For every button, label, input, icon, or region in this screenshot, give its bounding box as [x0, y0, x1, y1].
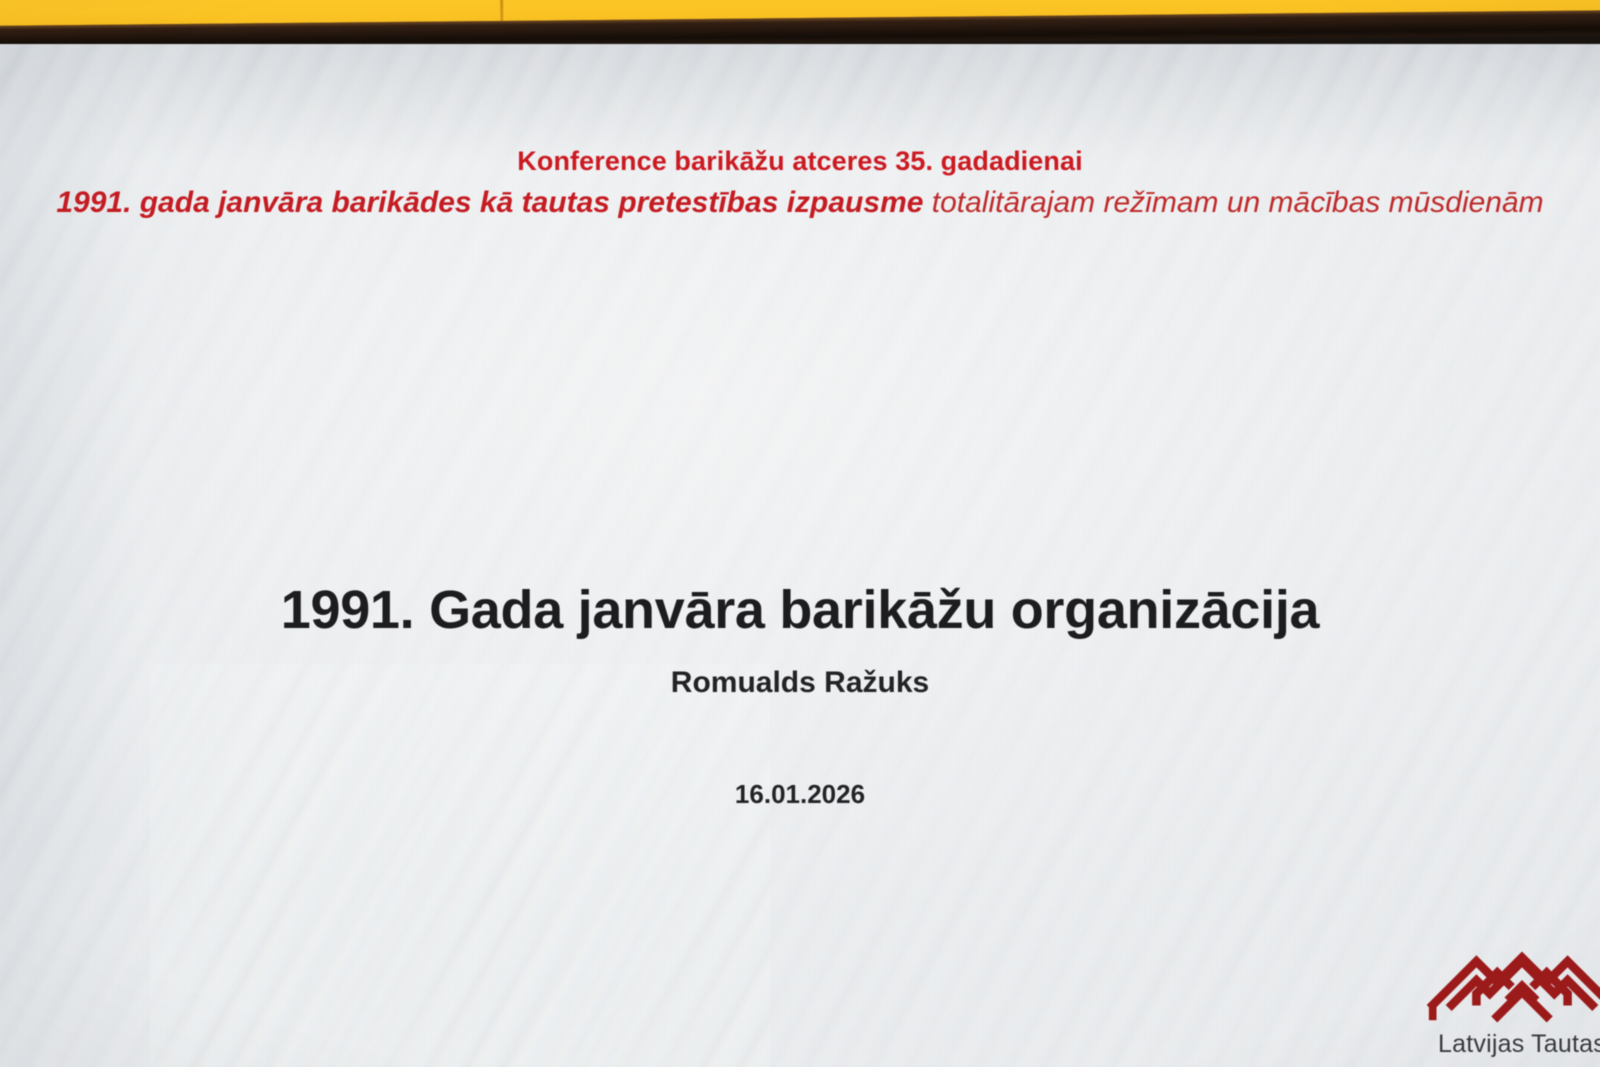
organization-logo: Latvijas Tautas: [1392, 906, 1600, 1059]
conference-subtitle-emphasis: 1991. gada janvāra barikādes kā tautas p…: [56, 186, 923, 219]
presentation-title: 1991. Gada janvāra barikāžu organizācija: [0, 579, 1600, 641]
presenter-name: Romualds Ražuks: [0, 666, 1600, 700]
slide-content: Konference barikāžu atceres 35. gadadien…: [0, 44, 1600, 1067]
conference-subtitle: 1991. gada janvāra barikādes kā tautas p…: [40, 182, 1560, 224]
photographed-presentation-screen: Konference barikāžu atceres 35. gadadien…: [0, 0, 1600, 1067]
latvian-folk-ornament-icon: [1427, 906, 1600, 1028]
conference-title: Konference barikāžu atceres 35. gadadien…: [24, 144, 1576, 180]
slide-header: Konference barikāžu atceres 35. gadadien…: [0, 144, 1600, 224]
presentation-date: 16.01.2026: [0, 779, 1600, 810]
organization-name: Latvijas Tautas: [1392, 1030, 1600, 1059]
projection-screen: Konference barikāžu atceres 35. gadadien…: [0, 44, 1600, 1067]
conference-subtitle-rest: totalitārajam režīmam un mācības mūsdien…: [923, 186, 1543, 219]
